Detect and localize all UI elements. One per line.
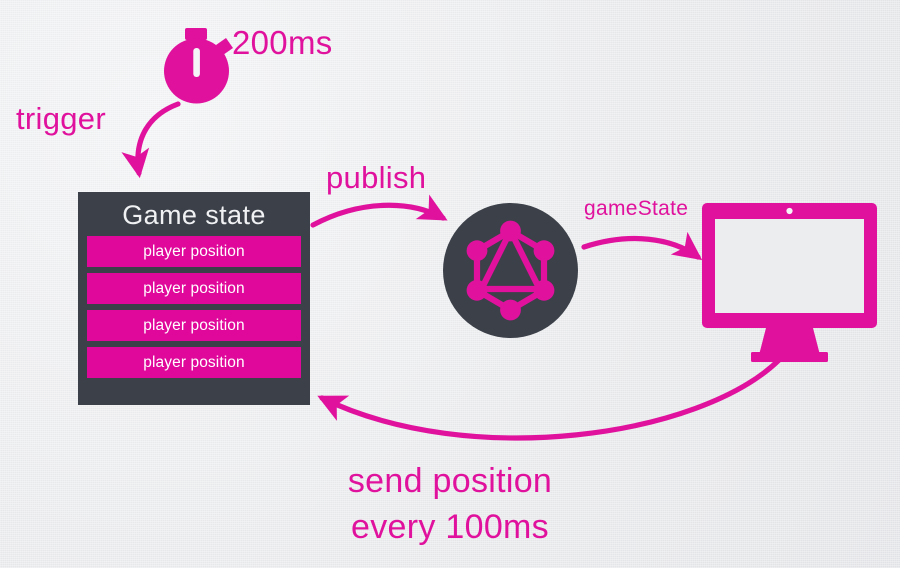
player-position-row[interactable]: player position [87,236,301,267]
timer-interval-label: 200ms [232,24,333,62]
send-position-edge-label: send position every 100ms [0,458,900,550]
graphql-logo-icon [443,203,578,338]
game-state-box[interactable]: Game state player position player positi… [78,192,310,405]
send-position-line-1: send position [348,462,552,500]
publish-edge-label: publish [326,160,426,196]
send-position-arrow [322,360,779,438]
desktop-monitor-icon [702,203,877,362]
diagram-canvas: Game state player position player positi… [0,0,900,568]
send-position-line-2: every 100ms [0,504,900,550]
player-position-row[interactable]: player position [87,310,301,341]
stopwatch-icon [164,28,233,104]
gamestate-edge-label: gameState [584,197,688,221]
player-position-row[interactable]: player position [87,347,301,378]
game-state-title: Game state [87,197,301,233]
gamestate-arrow [584,239,698,257]
player-position-row[interactable]: player position [87,273,301,304]
publish-arrow [313,205,443,225]
trigger-arrow [138,104,178,173]
graphql-node[interactable] [443,203,578,338]
trigger-edge-label: trigger [16,101,106,137]
